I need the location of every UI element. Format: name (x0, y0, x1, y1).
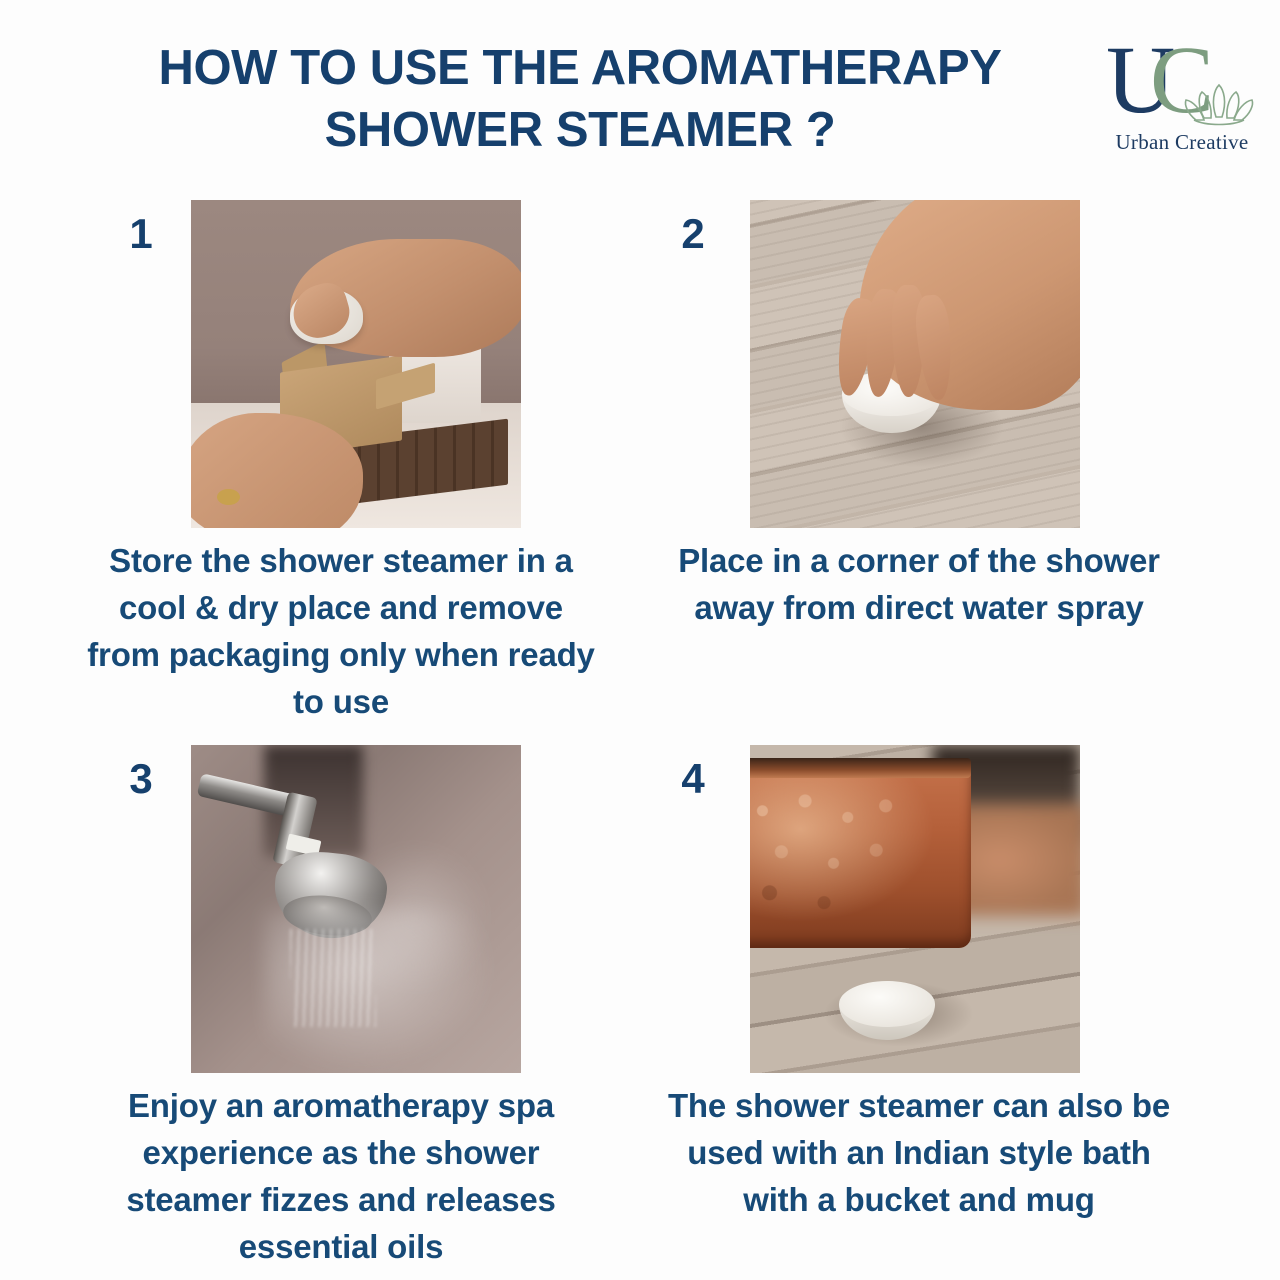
step-3-caption: Enjoy an aromatherapy spa experience as … (20, 1083, 620, 1270)
page-title: HOW TO USE THE AROMATHERAPY SHOWER STEAM… (60, 38, 1100, 161)
header: HOW TO USE THE AROMATHERAPY SHOWER STEAM… (0, 0, 1280, 185)
step-4-photo (750, 745, 1080, 1073)
scene-copper-bucket-with-steamer-on-floor (750, 745, 1080, 1073)
step-1: 1 Store the shower steamer (20, 185, 620, 725)
step-2-number: 2 (662, 213, 724, 255)
step-2-caption: Place in a corner of the shower away fro… (640, 538, 1240, 632)
step-1-caption: Store the shower steamer in a cool & dry… (20, 538, 620, 725)
step-1-header: 1 (20, 185, 620, 528)
step-4-header: 4 (640, 730, 1240, 1073)
scene-hand-placing-steamer-on-wooden-floor (750, 200, 1080, 528)
logo-wordmark: Urban Creative (1098, 130, 1266, 155)
step-2-header: 2 (640, 185, 1240, 528)
step-2: 2 Place in a corner of the shower away f… (640, 185, 1240, 632)
scene-chrome-shower-head-spraying-steam (191, 745, 521, 1073)
scene-hand-removing-steamer-from-kraft-packaging (191, 200, 521, 528)
brand-logo: U C Urban Creative (1098, 32, 1266, 167)
logo-letter-c: C (1150, 32, 1214, 132)
step-1-number: 1 (110, 213, 172, 255)
step-1-photo (191, 200, 521, 528)
step-2-photo (750, 200, 1080, 528)
step-4: 4 The shower steamer can also be used wi… (640, 730, 1240, 1224)
logo-mark-uc: U C (1098, 32, 1266, 132)
step-3-photo (191, 745, 521, 1073)
step-3: 3 Enjoy an aromatherapy spa experience a… (20, 730, 620, 1270)
step-4-number: 4 (662, 758, 724, 800)
step-4-caption: The shower steamer can also be used with… (640, 1083, 1240, 1224)
step-3-header: 3 (20, 730, 620, 1073)
step-3-number: 3 (110, 758, 172, 800)
